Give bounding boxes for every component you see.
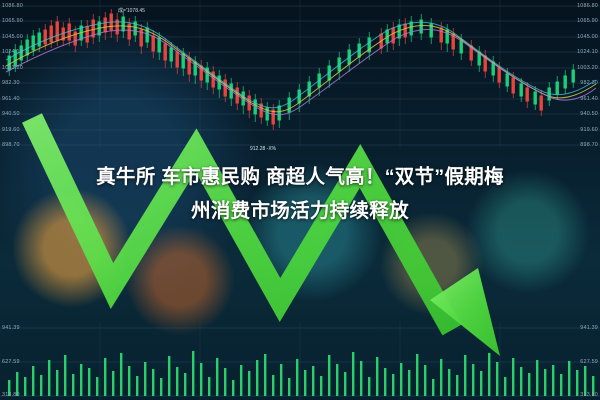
price-ytick-left-4: 1003.20 xyxy=(2,65,23,71)
volume-ytick-left-2: 313.80 xyxy=(2,392,20,398)
headline-line-1: 真牛所 车市惠民购 商超人气高！“双节”假期梅 xyxy=(96,166,504,188)
screenshot-stage: 1086.80 1065.90 1045.00 1024.10 1003.20 … xyxy=(0,0,600,400)
peak-annotation: 成='1078.45 xyxy=(118,7,145,14)
price-ytick-left-8: 919.60 xyxy=(2,127,20,133)
price-ytick-left-5: 982.30 xyxy=(2,80,20,86)
mid-annotation: 912.28 -X% xyxy=(250,146,276,152)
price-ytick-left-6: 961.40 xyxy=(2,96,20,102)
price-ytick-left-7: 940.50 xyxy=(2,111,20,117)
volume-chart-panel: 941.39 627.59 313.80 941.39 627.59 313.8… xyxy=(0,322,600,400)
price-ytick-right-2: 1045.00 xyxy=(577,34,598,40)
price-ytick-left-2: 1045.00 xyxy=(2,34,23,40)
headline: 真牛所 车市惠民购 商超人气高！“双节”假期梅 州消费市场活力持续释放 xyxy=(18,160,582,228)
volume-ytick-right-1: 627.59 xyxy=(580,359,598,365)
price-ytick-left-1: 1065.90 xyxy=(2,18,23,24)
volume-chart-svg xyxy=(0,322,600,400)
price-ytick-right-1: 1065.90 xyxy=(577,18,598,24)
price-ytick-right-8: 919.60 xyxy=(580,127,598,133)
headline-line-2: 州消费市场活力持续释放 xyxy=(18,194,582,228)
volume-ytick-left-1: 627.59 xyxy=(2,359,20,365)
price-ytick-right-9: 898.70 xyxy=(580,142,598,148)
volume-bars xyxy=(8,351,594,396)
price-ytick-left-0: 1086.80 xyxy=(2,3,23,9)
price-ytick-right-3: 1024.10 xyxy=(577,49,598,55)
price-ytick-right-0: 1086.80 xyxy=(577,3,598,9)
volume-ytick-left-0: 941.39 xyxy=(2,325,20,331)
price-ytick-right-5: 982.30 xyxy=(580,80,598,86)
price-ytick-right-6: 961.40 xyxy=(580,96,598,102)
price-ytick-right-7: 940.50 xyxy=(580,111,598,117)
volume-ytick-right-2: 313.80 xyxy=(580,392,598,398)
price-ytick-left-9: 898.70 xyxy=(2,142,20,148)
volume-ytick-right-0: 941.39 xyxy=(580,325,598,331)
price-ytick-left-3: 1024.10 xyxy=(2,49,23,55)
price-chart-panel: 1086.80 1065.90 1045.00 1024.10 1003.20 … xyxy=(0,0,600,148)
price-chart-svg xyxy=(0,0,600,148)
price-ytick-right-4: 1003.20 xyxy=(577,65,598,71)
